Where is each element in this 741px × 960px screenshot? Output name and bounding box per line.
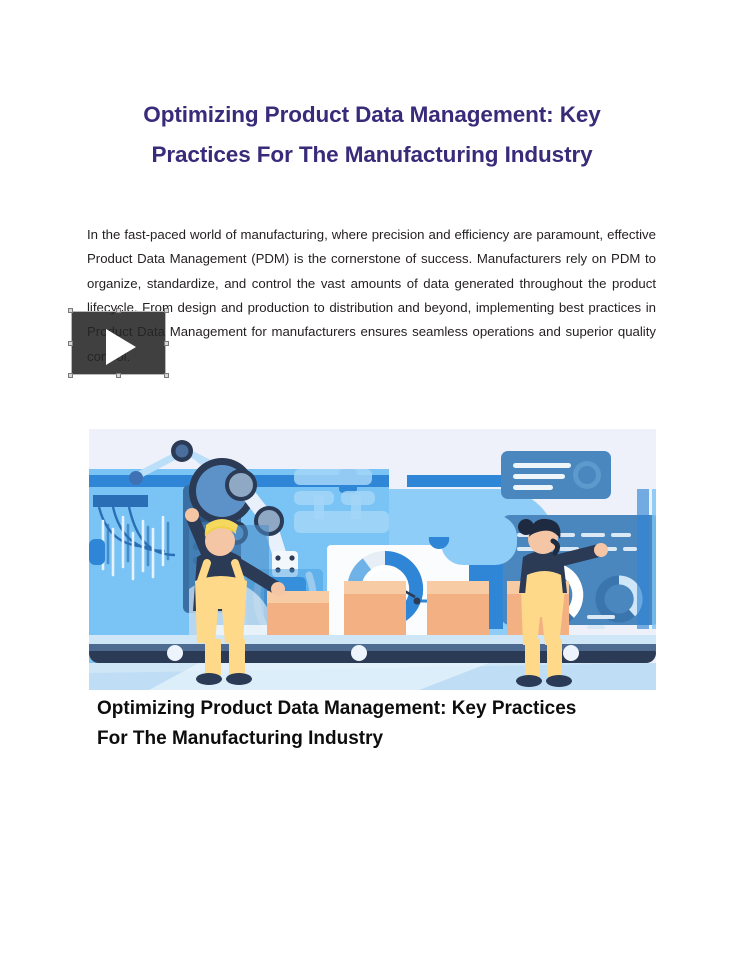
figure-illustration <box>89 429 656 690</box>
play-triangle-icon <box>106 329 136 365</box>
document-page: Optimizing Product Data Management: Key … <box>0 0 741 960</box>
body-paragraph: In the fast-paced world of manufacturing… <box>87 223 656 369</box>
page-title-line-1: Optimizing Product Data Management: Key <box>88 95 656 135</box>
figure-caption: Optimizing Product Data Management: Key … <box>97 694 657 754</box>
resize-handle-top-right[interactable] <box>164 308 169 313</box>
resize-handle-bottom-left[interactable] <box>68 373 73 378</box>
page-title: Optimizing Product Data Management: Key … <box>88 95 656 175</box>
page-title-line-2: Practices For The Manufacturing Industry <box>88 135 656 175</box>
resize-handle-middle-left[interactable] <box>68 341 73 346</box>
resize-handle-bottom-right[interactable] <box>164 373 169 378</box>
resize-handle-middle-right[interactable] <box>164 341 169 346</box>
video-play-overlay[interactable] <box>68 308 169 378</box>
resize-handle-top-left[interactable] <box>68 308 73 313</box>
resize-handle-bottom-center[interactable] <box>116 373 121 378</box>
smart-factory-illustration <box>89 429 656 690</box>
figure-caption-line-2: For The Manufacturing Industry <box>97 724 657 754</box>
resize-handle-top-center[interactable] <box>116 308 121 313</box>
figure-caption-line-1: Optimizing Product Data Management: Key … <box>97 694 657 724</box>
video-play-button[interactable] <box>71 311 166 375</box>
